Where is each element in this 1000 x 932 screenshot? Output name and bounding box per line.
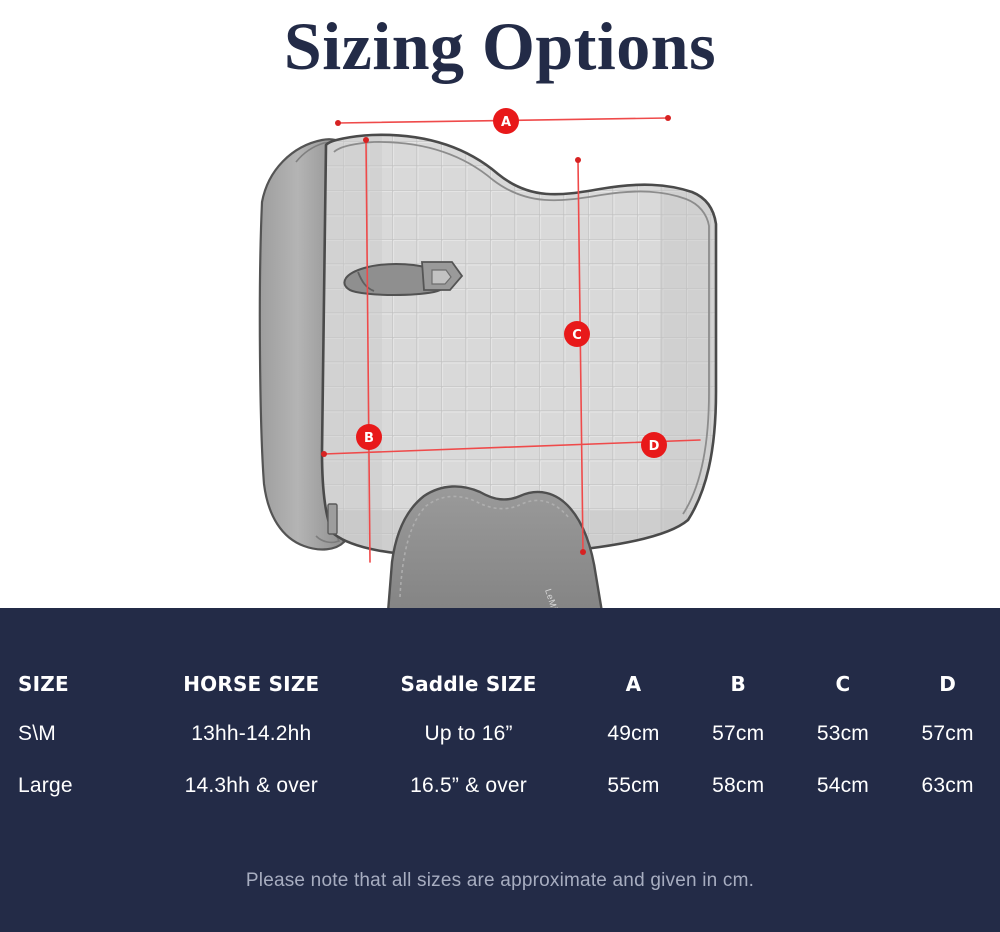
cell-saddle-size: 16.5” & over — [356, 760, 581, 812]
cell-d: 63cm — [895, 760, 1000, 812]
table-row: S\M 13hh-14.2hh Up to 16” 49cm 57cm 53cm… — [0, 708, 1000, 760]
measurement-marker-d-label: D — [649, 439, 660, 454]
cell-a: 55cm — [581, 760, 686, 812]
table-header-b: B — [686, 660, 791, 708]
pad-side-tag — [328, 504, 337, 534]
sizing-table: SIZE HORSE SIZE Saddle SIZE A B C D S\M … — [0, 660, 1000, 812]
page-title: Sizing Options — [284, 12, 716, 80]
measurement-line-a: A — [335, 108, 671, 134]
table-header-d: D — [895, 660, 1000, 708]
saddle-pad-diagram: LeMieux — [0, 92, 1000, 608]
measurement-marker-b-label: B — [364, 431, 374, 446]
cell-size: Large — [0, 760, 147, 812]
table-row: Large 14.3hh & over 16.5” & over 55cm 58… — [0, 760, 1000, 812]
cell-d: 57cm — [895, 708, 1000, 760]
measurement-marker-c-label: C — [572, 328, 582, 343]
cell-c: 54cm — [791, 760, 896, 812]
cell-size: S\M — [0, 708, 147, 760]
measurement-marker-a-label: A — [501, 115, 511, 130]
cell-a: 49cm — [581, 708, 686, 760]
title-area: Sizing Options — [0, 0, 1000, 92]
diagram-area: LeMieux — [0, 92, 1000, 608]
table-header-size: SIZE — [0, 660, 147, 708]
cell-horse-size: 13hh-14.2hh — [147, 708, 356, 760]
cell-b: 58cm — [686, 760, 791, 812]
table-header-saddle-size: Saddle SIZE — [356, 660, 581, 708]
sizing-options-page: Sizing Options — [0, 0, 1000, 932]
sizing-note: Please note that all sizes are approxima… — [0, 870, 1000, 892]
sizing-table-panel: SIZE HORSE SIZE Saddle SIZE A B C D S\M … — [0, 608, 1000, 932]
cell-b: 57cm — [686, 708, 791, 760]
table-header-c: C — [791, 660, 896, 708]
table-header-row: SIZE HORSE SIZE Saddle SIZE A B C D — [0, 660, 1000, 708]
cell-saddle-size: Up to 16” — [356, 708, 581, 760]
table-header-a: A — [581, 660, 686, 708]
table-header-horse-size: HORSE SIZE — [147, 660, 356, 708]
cell-horse-size: 14.3hh & over — [147, 760, 356, 812]
cell-c: 53cm — [791, 708, 896, 760]
